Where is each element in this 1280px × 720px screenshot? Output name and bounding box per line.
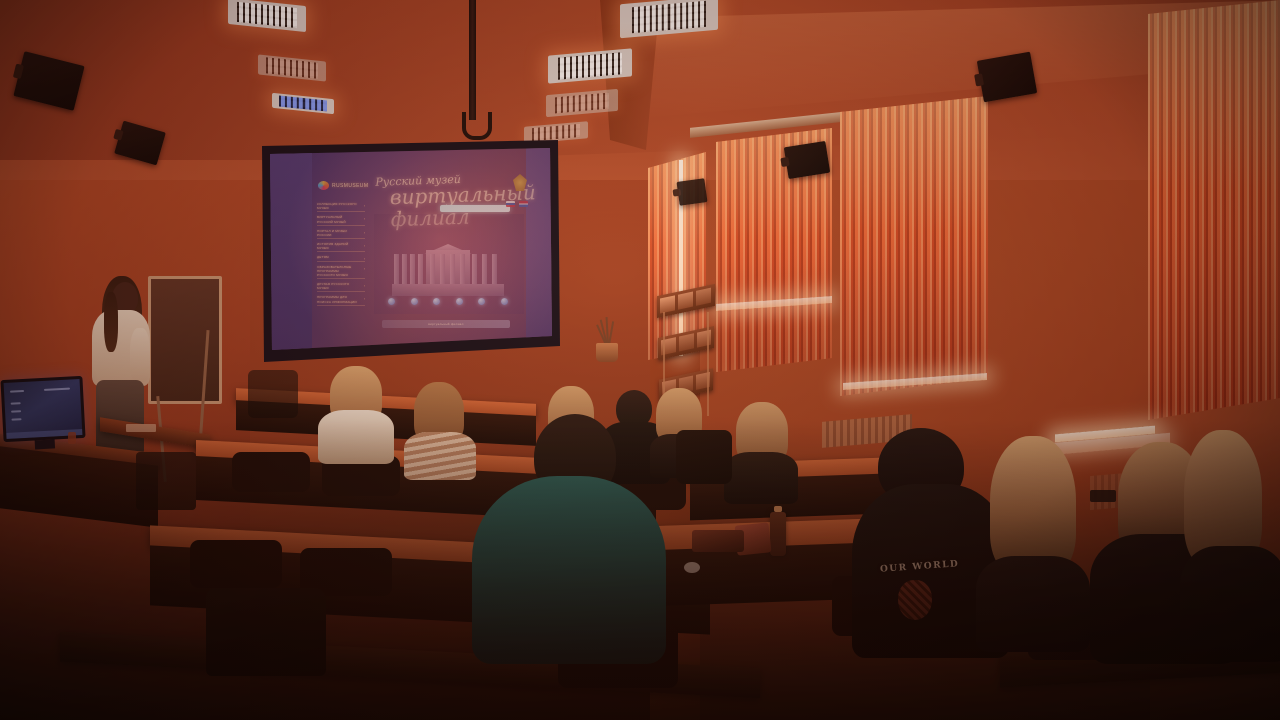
monitor-ui-row [11, 402, 21, 405]
wall-speaker [676, 178, 707, 206]
rack-tier [658, 326, 714, 360]
pencil-case[interactable] [692, 530, 744, 552]
monitor-ui-row [11, 410, 21, 413]
speaker-bracket [673, 189, 682, 197]
window-glow [840, 96, 988, 396]
light-louver-grid [266, 58, 318, 79]
chair-seat [136, 452, 196, 510]
wall-speaker [784, 141, 830, 179]
light-louver-grid [632, 1, 707, 33]
speaker-bracket [780, 156, 789, 167]
window-glow [1148, 0, 1280, 420]
student-torso [404, 432, 476, 480]
student-torso [976, 556, 1090, 652]
chair-back [190, 540, 282, 588]
student-1 [316, 366, 396, 462]
student-8b [976, 436, 1092, 650]
phone-on-desk[interactable] [1090, 490, 1116, 502]
desk-cup [68, 432, 76, 444]
light-louver-grid [279, 95, 326, 111]
student-10 [1180, 430, 1280, 660]
student-2 [404, 382, 478, 474]
light-louver-grid [237, 2, 296, 28]
student-hair [990, 436, 1076, 576]
light-louver-grid [555, 92, 610, 114]
rack-brochure [678, 292, 693, 310]
projection-screen[interactable]: RUSMUSEUM Русский музей виртуальный фили… [270, 148, 552, 350]
bottle-cap [774, 506, 781, 512]
rack-brochure [660, 295, 675, 313]
speaker-bracket [13, 63, 24, 78]
presenter-hair-front [104, 292, 118, 352]
chair-seat [248, 370, 298, 418]
student-torso [1180, 546, 1280, 662]
monitor-ui-row [44, 388, 70, 391]
student-3 [470, 414, 670, 664]
monitor-screen [4, 379, 83, 439]
rack-brochure [696, 288, 711, 306]
speaker-bracket [974, 73, 984, 87]
light-louver-grid [532, 124, 581, 141]
plant-pot [596, 343, 618, 362]
student-torso [724, 452, 798, 504]
window-blinds-3 [840, 96, 988, 396]
student-8 [724, 402, 800, 498]
backpack-on-floor[interactable] [206, 588, 326, 676]
student-torso [472, 476, 666, 664]
screen-light-falloff [270, 148, 552, 350]
water-bottle[interactable] [770, 512, 786, 556]
projector-mount-hook [462, 112, 492, 140]
monitor-stand [35, 439, 55, 449]
student-torso [318, 410, 394, 464]
bag-on-chair[interactable] [676, 430, 732, 484]
chair-back [232, 452, 310, 492]
projector-mount-pole [469, 0, 476, 120]
rack-brochure [679, 333, 694, 351]
window-blinds-4 [1148, 0, 1280, 420]
classroom-scene: RUSMUSEUM Русский музей виртуальный фили… [0, 0, 1280, 720]
dried-plant-vase [596, 316, 618, 362]
white-puck-item[interactable] [684, 562, 700, 573]
hoodie-grenade-graphic [898, 580, 932, 620]
plant-twig [608, 321, 614, 345]
paper-sheet [126, 424, 156, 432]
light-louver-grid [558, 53, 622, 80]
presenter-arm [130, 328, 150, 382]
monitor-ui-row [10, 390, 24, 393]
monitor-ui-row [11, 418, 21, 421]
